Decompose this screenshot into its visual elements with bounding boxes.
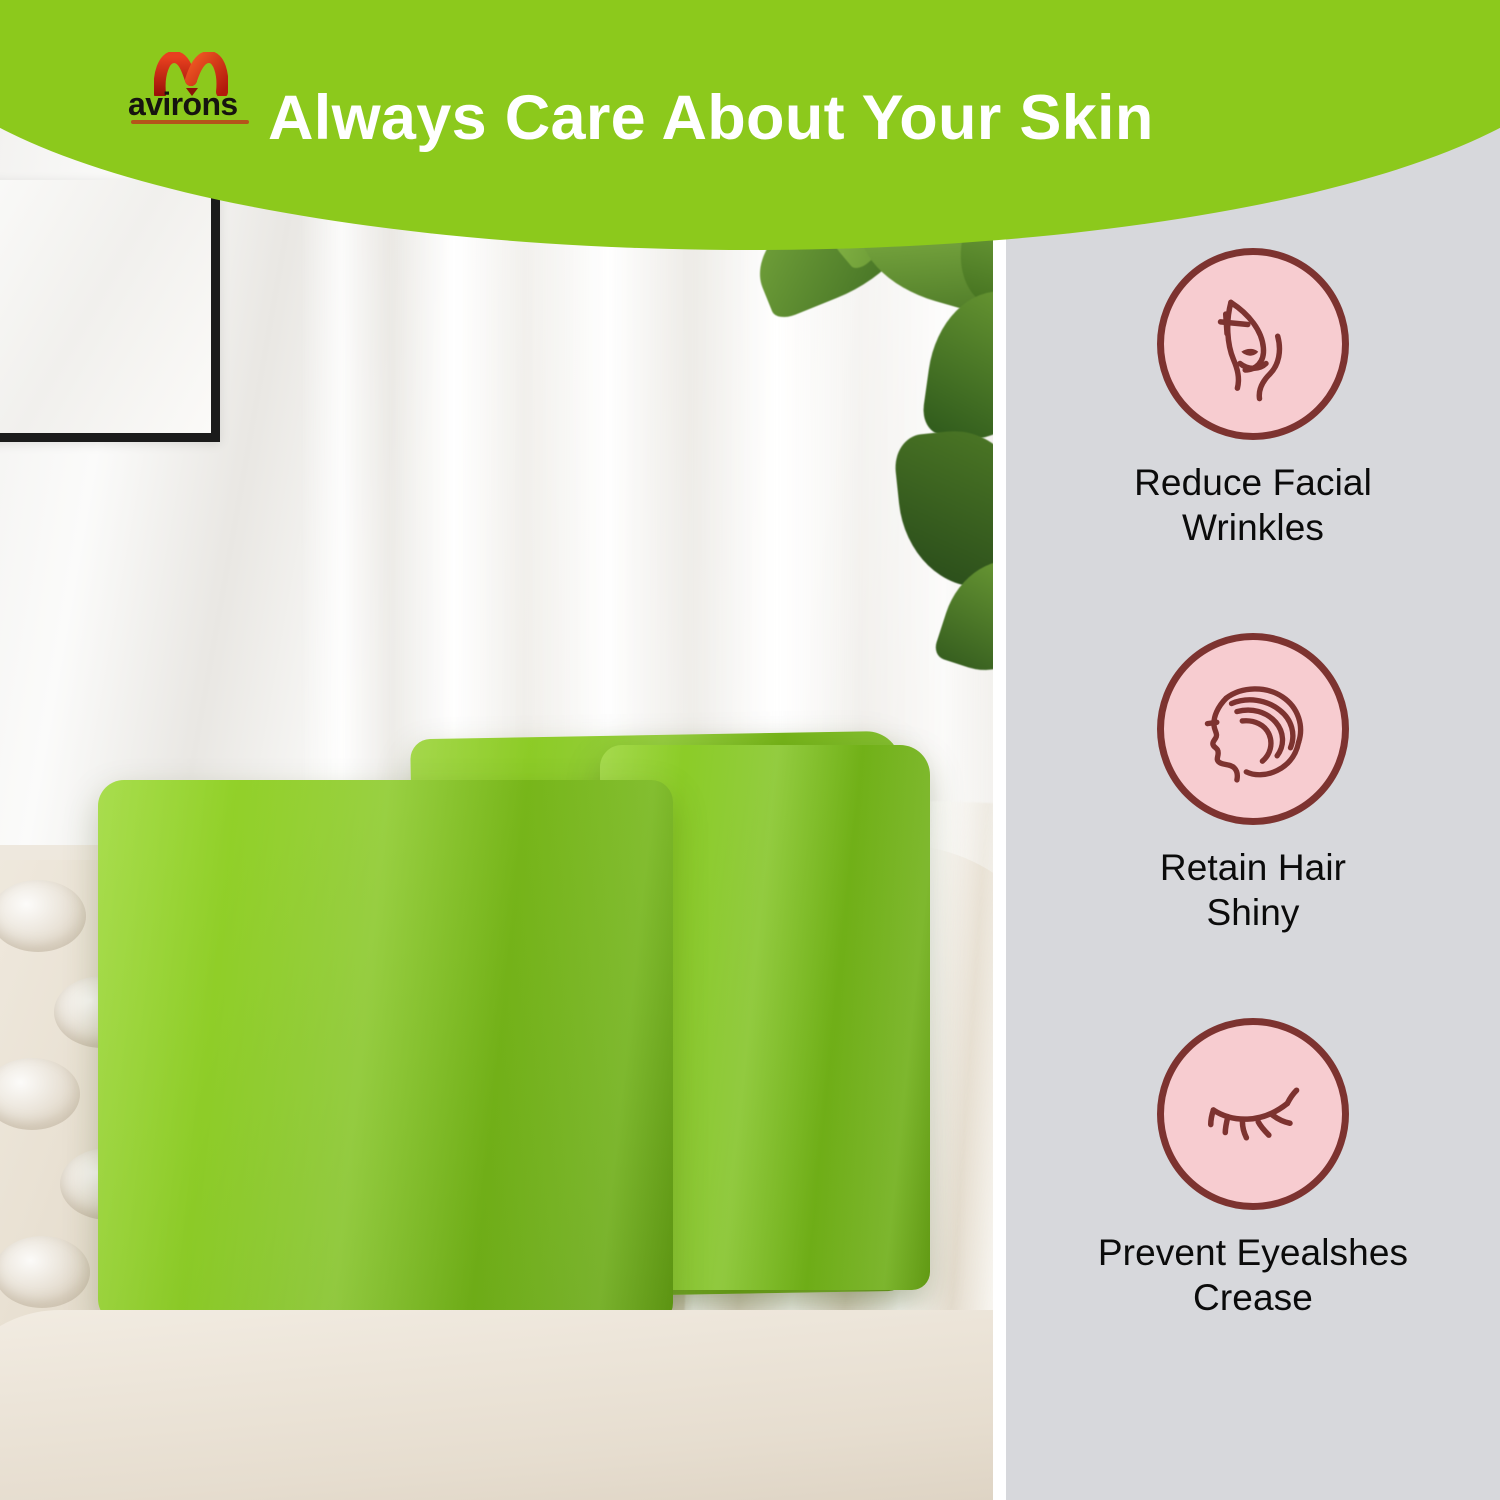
- cushion-sheen: [98, 780, 673, 1325]
- panel-divider: [993, 0, 1006, 1500]
- benefit-label-line2: Crease: [1193, 1277, 1313, 1318]
- benefit-item-retain-hair-shiny: Retain Hair Shiny: [1006, 633, 1500, 1018]
- benefit-label-line1: Prevent Eyealshes: [1098, 1232, 1408, 1273]
- benefits-panel: Reduce Facial Wrinkles: [1006, 0, 1500, 1500]
- woman-face-profile-icon: [1157, 248, 1349, 440]
- product-marketing-banner: Reduce Facial Wrinkles: [0, 0, 1500, 1500]
- cushion-front: [98, 780, 673, 1325]
- benefit-label-line1: Reduce Facial: [1134, 462, 1372, 503]
- sofa-seat: [0, 1310, 993, 1500]
- benefit-label-line2: Shiny: [1206, 892, 1299, 933]
- benefit-item-prevent-eyelashes-crease: Prevent Eyealshes Crease: [1006, 1018, 1500, 1403]
- benefit-label: Retain Hair Shiny: [1160, 845, 1346, 935]
- benefit-label-line2: Wrinkles: [1182, 507, 1324, 548]
- benefit-label: Prevent Eyealshes Crease: [1098, 1230, 1408, 1320]
- picture-frame-canvas: [0, 180, 211, 433]
- product-photo: [0, 0, 993, 1500]
- closed-eye-eyelash-icon: [1157, 1018, 1349, 1210]
- picture-frame: [0, 180, 220, 442]
- benefit-label: Reduce Facial Wrinkles: [1134, 460, 1372, 550]
- benefit-item-reduce-facial-wrinkles: Reduce Facial Wrinkles: [1006, 248, 1500, 633]
- benefit-label-line1: Retain Hair: [1160, 847, 1346, 888]
- benefits-list: Reduce Facial Wrinkles: [1006, 248, 1500, 1403]
- woman-flowing-hair-icon: [1157, 633, 1349, 825]
